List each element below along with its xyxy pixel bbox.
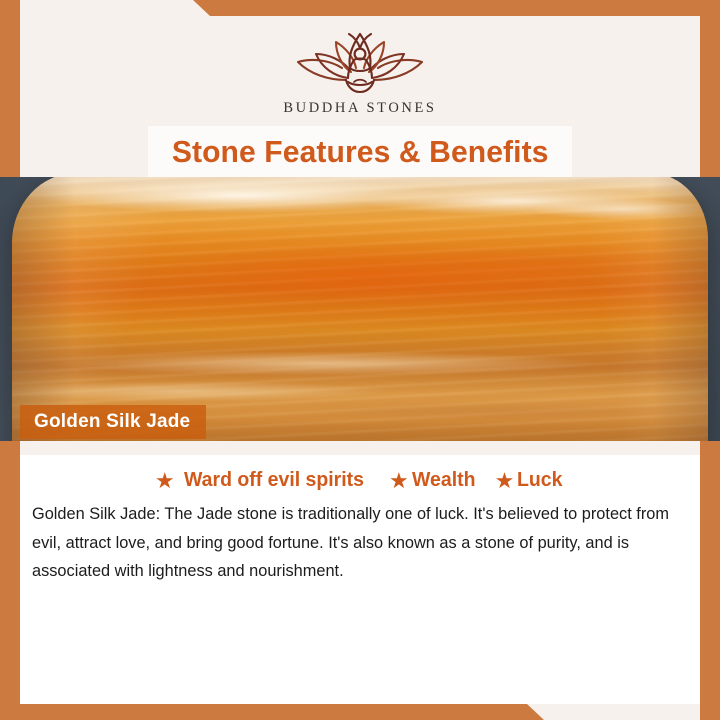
- star-icon: ★: [155, 470, 175, 492]
- brand-logo: BUDDHA STONES: [0, 0, 720, 117]
- stone-edge-shading: [12, 177, 708, 441]
- page-title: Stone Features & Benefits: [172, 134, 549, 170]
- benefit-label: Ward off evil spirits: [184, 468, 364, 492]
- benefit-item: ★ Ward off evil spirits: [155, 468, 373, 492]
- benefit-label: Luck: [517, 468, 562, 492]
- product-photo: [0, 177, 720, 441]
- divider-strip: [20, 441, 700, 455]
- corner-accent-bottom-left: [0, 704, 544, 720]
- star-icon: ★: [495, 470, 515, 492]
- star-icon: ★: [389, 470, 409, 492]
- content-panel: ★ Ward off evil spirits ★ Wealth ★ Luck …: [20, 455, 700, 704]
- stone-name-label: Golden Silk Jade: [20, 405, 206, 439]
- benefit-item: ★ Luck: [495, 468, 566, 492]
- benefits-row: ★ Ward off evil spirits ★ Wealth ★ Luck: [20, 455, 700, 492]
- title-banner: Stone Features & Benefits: [148, 126, 572, 177]
- brand-name: BUDDHA STONES: [0, 100, 720, 117]
- lotus-meditation-icon: [288, 24, 432, 96]
- promo-card: BUDDHA STONES Stone Features & Benefits …: [0, 0, 720, 720]
- golden-silk-jade-stone: [12, 177, 708, 441]
- stone-description: Golden Silk Jade: The Jade stone is trad…: [32, 500, 670, 586]
- benefit-label: Wealth: [412, 468, 475, 492]
- stone-name-text: Golden Silk Jade: [34, 411, 190, 433]
- benefit-item: ★ Wealth: [389, 468, 479, 492]
